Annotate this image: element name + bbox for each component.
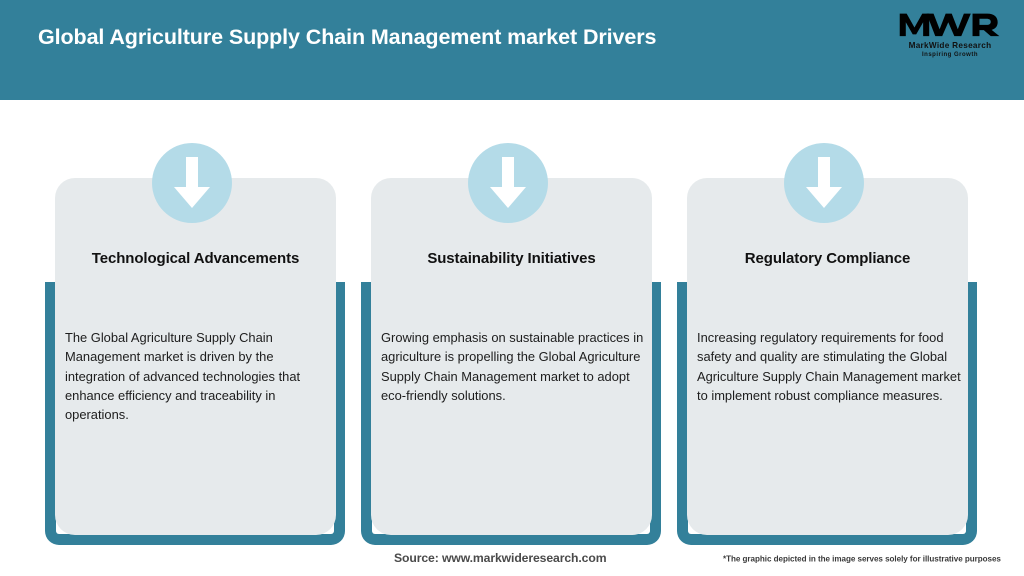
arrow-down-glyph: [488, 157, 528, 209]
card-body-text: The Global Agriculture Supply Chain Mana…: [65, 328, 330, 424]
card-body-text: Increasing regulatory requirements for f…: [697, 328, 962, 405]
header-bar: Global Agriculture Supply Chain Manageme…: [0, 0, 1024, 100]
mwr-logo-icon: [898, 8, 1002, 40]
logo-company-name: MarkWide Research: [898, 41, 1002, 51]
arrow-down-glyph: [804, 157, 844, 209]
card-body-text: Growing emphasis on sustainable practice…: [381, 328, 646, 405]
arrow-down-icon: [784, 143, 864, 223]
driver-cards-row: Technological Advancements The Global Ag…: [0, 100, 1024, 540]
driver-card: Sustainability Initiatives Growing empha…: [355, 100, 671, 540]
card-title: Sustainability Initiatives: [371, 250, 652, 267]
brand-logo: MarkWide Research Inspiring Growth: [898, 8, 1002, 66]
arrow-down-icon: [468, 143, 548, 223]
disclaimer-note: *The graphic depicted in the image serve…: [723, 555, 1001, 564]
source-label: Source: www.markwideresearch.com: [394, 551, 606, 565]
driver-card: Technological Advancements The Global Ag…: [39, 100, 355, 540]
card-title: Technological Advancements: [55, 250, 336, 267]
page-title: Global Agriculture Supply Chain Manageme…: [38, 22, 858, 52]
driver-card: Regulatory Compliance Increasing regulat…: [671, 100, 987, 540]
arrow-down-glyph: [172, 157, 212, 209]
card-title: Regulatory Compliance: [687, 250, 968, 267]
logo-tagline: Inspiring Growth: [898, 51, 1002, 59]
arrow-down-icon: [152, 143, 232, 223]
